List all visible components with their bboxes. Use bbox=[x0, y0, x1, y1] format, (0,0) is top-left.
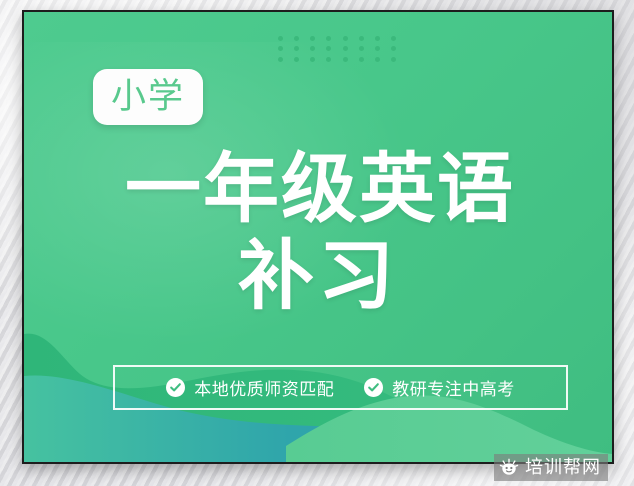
poster-card: 小学 一年级英语 补习 bbox=[22, 10, 614, 464]
dot bbox=[375, 46, 380, 51]
dot-grid-decoration bbox=[272, 33, 402, 65]
dot bbox=[310, 46, 315, 51]
feature-item-1-label: 本地优质师资匹配 bbox=[194, 375, 334, 400]
feature-item-2-label: 教研专注中高考 bbox=[392, 375, 515, 400]
dot bbox=[278, 57, 283, 62]
dot bbox=[278, 36, 283, 41]
dot bbox=[343, 57, 348, 62]
dot bbox=[326, 46, 331, 51]
dot bbox=[343, 36, 348, 41]
dot bbox=[359, 36, 364, 41]
dot bbox=[326, 57, 331, 62]
dot bbox=[391, 46, 396, 51]
sun-face-icon bbox=[499, 458, 519, 478]
dot bbox=[375, 36, 380, 41]
dot bbox=[375, 57, 380, 62]
dot bbox=[294, 57, 299, 62]
dot bbox=[359, 46, 364, 51]
watermark-label: 培训帮网 bbox=[525, 459, 601, 477]
dot bbox=[391, 36, 396, 41]
dot bbox=[310, 36, 315, 41]
dot bbox=[326, 36, 331, 41]
dot bbox=[278, 46, 283, 51]
title-line-1: 一年级英语 bbox=[24, 146, 612, 232]
title-line-2: 补习 bbox=[24, 232, 612, 320]
page-title: 一年级英语 补习 bbox=[24, 146, 612, 320]
check-circle-icon bbox=[166, 378, 185, 397]
feature-list: 本地优质师资匹配 教研专注中高考 bbox=[113, 365, 568, 410]
grade-level-badge: 小学 bbox=[93, 69, 203, 125]
watermark: 培训帮网 bbox=[494, 454, 608, 481]
grade-level-badge-label: 小学 bbox=[111, 80, 185, 115]
dot bbox=[310, 57, 315, 62]
feature-item-1: 本地优质师资匹配 bbox=[166, 375, 334, 400]
dot bbox=[294, 46, 299, 51]
feature-item-2: 教研专注中高考 bbox=[364, 375, 515, 400]
dot bbox=[391, 57, 396, 62]
dot bbox=[294, 36, 299, 41]
check-circle-icon bbox=[364, 378, 383, 397]
dot bbox=[359, 57, 364, 62]
dot bbox=[343, 46, 348, 51]
